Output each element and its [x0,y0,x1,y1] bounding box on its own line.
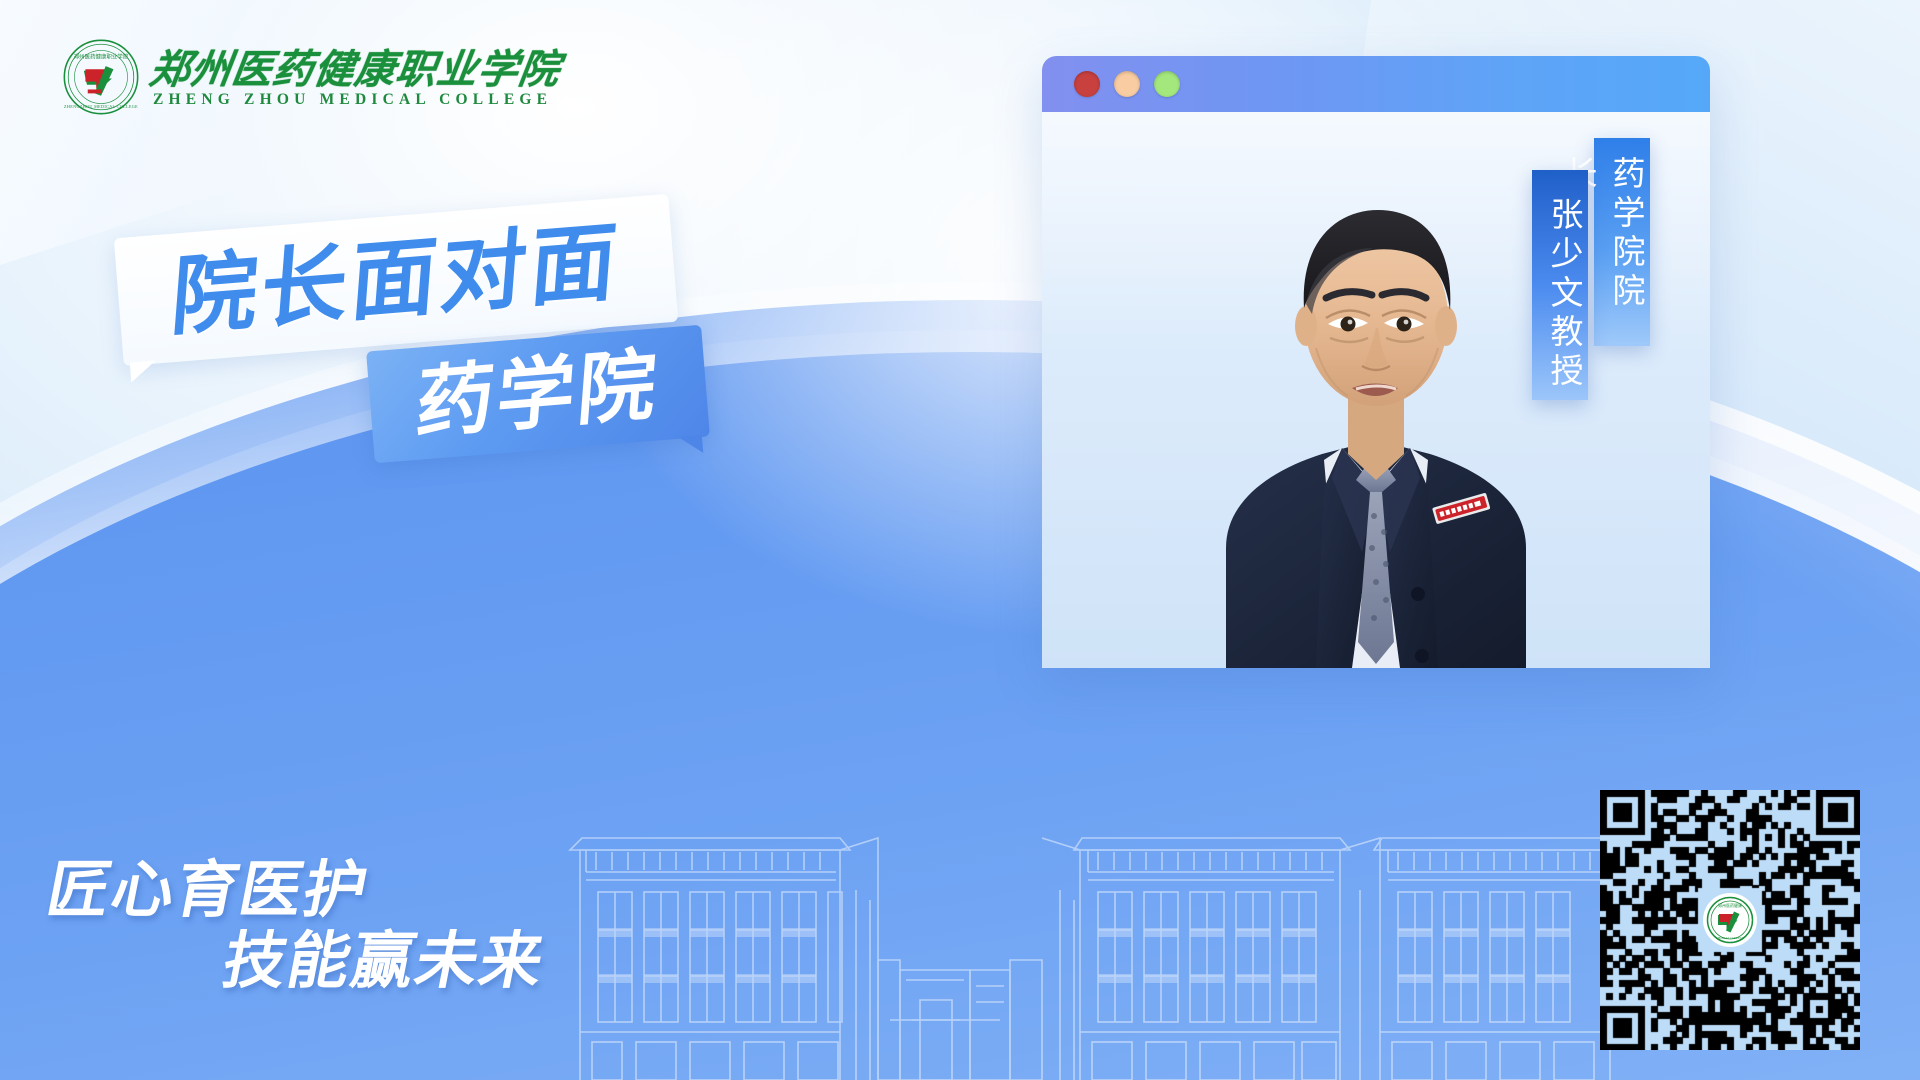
qr-center-seal-icon: 郑州医药健康 MEDICAL COLLEGE [1703,893,1757,947]
minimize-dot-icon[interactable] [1114,71,1140,97]
poster-canvas: 郑州医药健康职业学院 ZHENGZHOU MEDICAL COLLEGE 郑州医… [0,0,1920,1080]
tagline-line-1: 匠心育医护 [41,858,674,925]
speaker-portrait [1166,148,1586,668]
title-block: 院长面对面 药学院 [118,198,738,468]
title-line-1: 院长面对面 [168,219,623,342]
close-dot-icon[interactable] [1074,71,1100,97]
svg-text:ZHENGZHOU MEDICAL COLLEGE: ZHENGZHOU MEDICAL COLLEGE [64,104,138,109]
qr-code-block[interactable]: 郑州医药健康 MEDICAL COLLEGE [1600,790,1860,1050]
title-line-2: 药学院 [414,345,662,443]
speaker-name-plate: 张少文教授 [1532,170,1588,400]
logo-english-name: ZHENG ZHOU MEDICAL COLLEGE [150,92,560,108]
svg-text:郑州医药健康: 郑州医药健康 [1718,902,1742,908]
college-seal-icon: 郑州医药健康职业学院 ZHENGZHOU MEDICAL COLLEGE [62,38,140,116]
svg-text:郑州医药健康职业学院: 郑州医药健康职业学院 [74,52,129,60]
banner-tail-icon [130,361,158,383]
tagline-block: 匠心育医护 技能赢未来 [48,858,668,1038]
tagline-line-2: 技能赢未来 [217,929,674,996]
logo-chinese-name: 郑州医药健康职业学院 [147,50,563,90]
speaker-role-plate: 药学院院长 [1594,138,1650,346]
banner-tail-icon [678,435,703,455]
maximize-dot-icon[interactable] [1154,71,1180,97]
title-banner-secondary: 药学院 [366,325,710,464]
college-logo: 郑州医药健康职业学院 ZHENGZHOU MEDICAL COLLEGE 郑州医… [62,38,560,116]
svg-text:MEDICAL COLLEGE: MEDICAL COLLEGE [1716,936,1744,940]
browser-titlebar[interactable] [1042,56,1710,112]
